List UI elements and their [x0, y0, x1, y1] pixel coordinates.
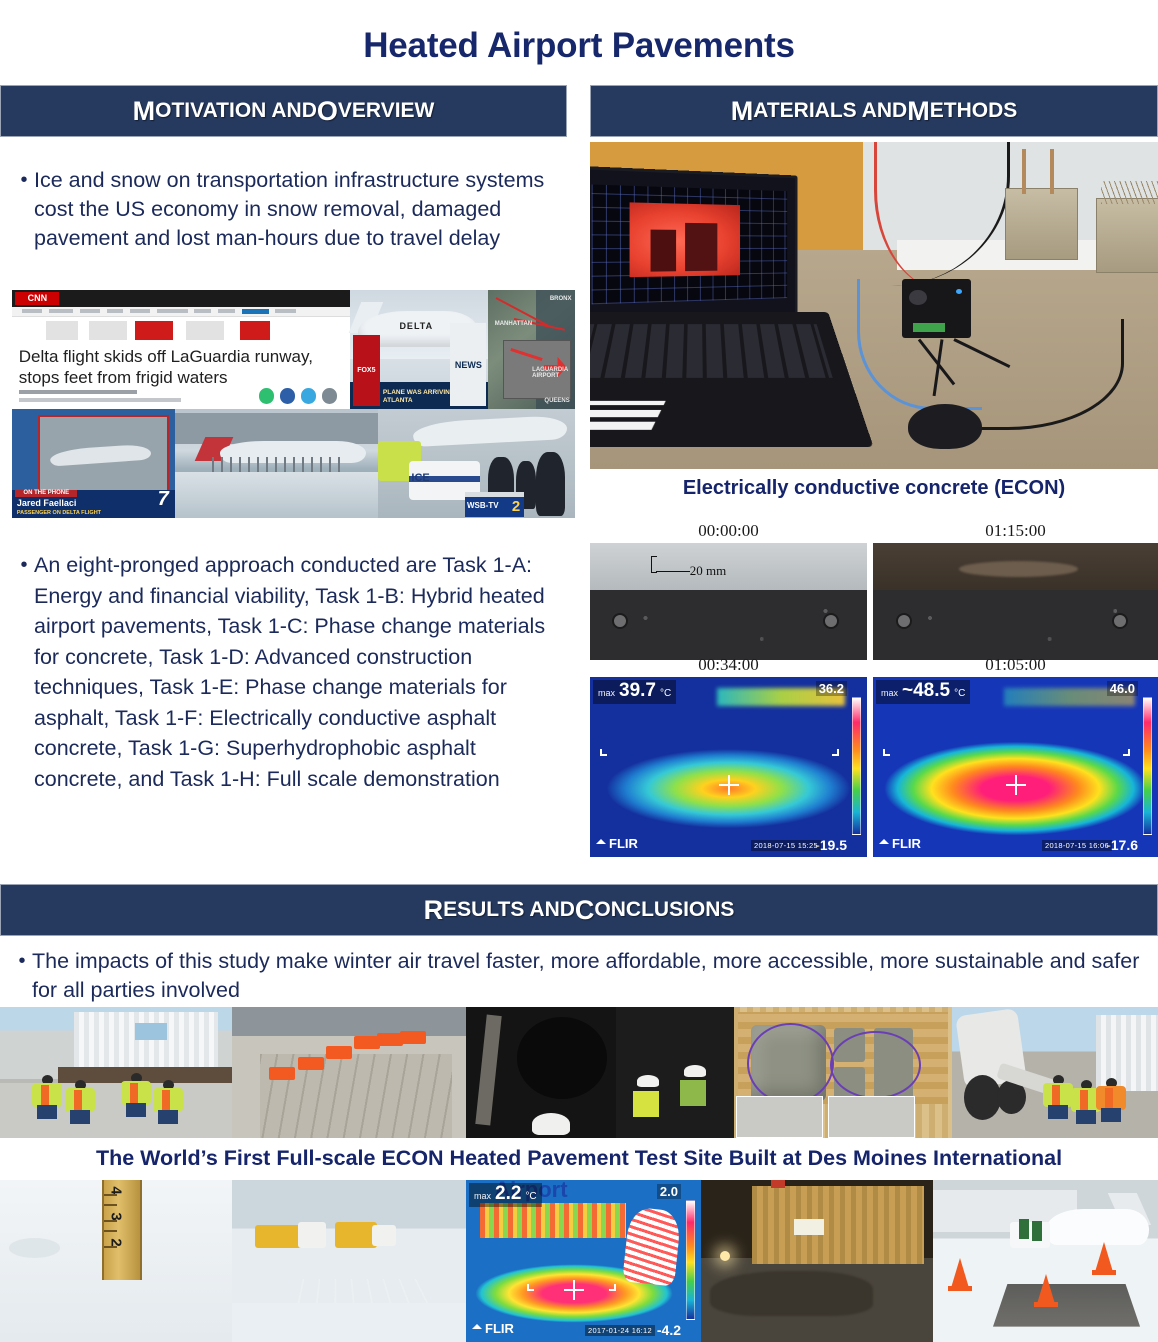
flir-max-readout-2: max ~48.5 °C [876, 680, 970, 704]
specimen-time-label-2: 01:15:00 [873, 521, 1158, 541]
specimen-photo-melted [873, 543, 1158, 660]
photo-thermal-site: Airport max 2.2 °C 2.0 -4.2 FLIR 2017-01… [466, 1180, 701, 1342]
results-photo-row-2: 4 3 2 Airport max [0, 1180, 1158, 1342]
map-label-airport: LAGUARDIA AIRPORT [532, 367, 570, 379]
section-header-motivation-rest1: OTIVATION AND [155, 99, 317, 123]
cnn-article-screenshot: CNN Delta flight skids off LaGu [12, 290, 350, 409]
bullet-motivation-2: • An eight-pronged approach conducted ar… [14, 550, 562, 794]
flir-timestamp-1: 2018-07-15 15:25 [751, 840, 821, 851]
cnn-ad-strip [46, 321, 316, 340]
cnn-byline-2 [19, 398, 181, 402]
flir-scale-high-2: 46.0 [1107, 681, 1138, 696]
page-title: Heated Airport Pavements [0, 26, 1158, 66]
section-header-materials: MATERIALS AND METHODS [590, 85, 1158, 137]
photo-tunnel-conduit-work [466, 1007, 616, 1138]
flir-max-readout-1: max 39.7 °C [593, 680, 676, 704]
flir-logo-icon [472, 1319, 482, 1329]
specimen-photo-ice: 20 mm [590, 543, 867, 660]
bullet-motivation-1-text: Ice and snow on transportation infrastru… [34, 166, 554, 253]
flir-max-unit: °C [660, 688, 671, 699]
flir-thermal-image-2: max ~48.5 °C 46.0 -17.6 FLIR 2018-07-15 … [873, 677, 1158, 857]
tv-on-the-phone-badge: ON THE PHONE [15, 490, 77, 498]
cnn-social-icons [259, 388, 340, 403]
photo-snow-plow-heated-slab [232, 1180, 466, 1342]
delta-plane-photo: DELTA FOX5 PLANE WAS ARRIVING FROM ATLAN… [350, 290, 488, 409]
map-label-bronx: BRONX [550, 296, 572, 302]
photo-crew-installing-slab [0, 1007, 232, 1138]
thermal-time-label-2: 01:05:00 [873, 655, 1158, 675]
flir-brand-text: FLIR [609, 836, 638, 851]
photo-night-hangar-clear-pad [701, 1180, 933, 1342]
delta-wordmark: DELTA [399, 321, 433, 331]
cnn-navbar [12, 307, 350, 318]
section-header-results: RESULTS AND CONCLUSIONS [0, 884, 1158, 936]
poster-canvas: Heated Airport Pavements MOTIVATION AND … [0, 0, 1158, 1342]
econ-specimen-1 [1005, 188, 1079, 260]
map-label-manhattan: MANHATTAN [495, 321, 532, 327]
fox-channel-badge: FOX5 [353, 335, 381, 406]
site-flir-brand-text: FLIR [485, 1321, 514, 1336]
laguardia-map-graphic: LAGUARDIA AIRPORT BRONX MANHATTAN QUEENS [488, 290, 575, 409]
site-thermal-max-readout: max 2.2 °C [469, 1183, 542, 1207]
flir-max-value: ~48.5 [902, 680, 950, 702]
bullet-motivation-2-text: An eight-pronged approach conducted are … [34, 550, 562, 794]
section-header-materials-rest2: ETHODS [930, 99, 1018, 123]
cnn-headline: Delta flight skids off LaGuardia runway,… [19, 346, 343, 388]
site-max-prefix: max [474, 1191, 491, 1201]
flir-color-scale-1 [852, 697, 861, 835]
photo-concrete-truck-pour [952, 1007, 1158, 1138]
snow-depth-ruler: 4 3 2 [102, 1180, 141, 1280]
bullet-marker: • [14, 166, 34, 253]
tv-interview-screenshot: ON THE PHONE Jared Faellaci PASSENGER ON… [12, 409, 175, 518]
photo-rebar-grid-pad [232, 1007, 466, 1138]
wsb-tv-logo: WSB-TV 2 [465, 497, 524, 517]
map-label-queens: QUEENS [544, 398, 569, 404]
laptop-screen [590, 166, 798, 327]
thermal-software-plot [591, 185, 787, 304]
flir-max-value: 39.7 [619, 680, 656, 702]
flir-brand-text: FLIR [892, 836, 921, 851]
flir-max-prefix: max [881, 688, 898, 698]
section-header-materials-cap2: M [907, 96, 930, 127]
laptop-keyboard [590, 312, 874, 447]
flir-timestamp-2: 2018-07-15 16:06 [1042, 840, 1112, 851]
flir-color-scale-2 [1143, 697, 1152, 835]
cnn-byline [19, 390, 137, 395]
section-header-motivation: MOTIVATION AND OVERVIEW [0, 85, 567, 137]
section-header-results-cap1: R [424, 895, 444, 926]
photo-electrical-work [616, 1007, 734, 1138]
flir-logo-icon [879, 834, 889, 844]
flir-max-prefix: max [598, 688, 615, 698]
section-header-motivation-cap1: M [133, 96, 156, 127]
flir-thermal-image-1: max 39.7 °C 36.2 -19.5 FLIR 2018-07-15 1… [590, 677, 867, 857]
computer-mouse [908, 404, 982, 450]
map-inset: LAGUARDIA AIRPORT [503, 340, 571, 399]
tv-guest-subtitle: PASSENGER ON DELTA FLIGHT [17, 510, 101, 516]
section-header-motivation-rest2: VERVIEW [338, 99, 434, 123]
econ-caption: Electrically conductive concrete (ECON) [590, 477, 1158, 500]
photo-jet-apron-clear-pad [933, 1180, 1158, 1342]
section-header-materials-cap1: M [731, 96, 754, 127]
runway-overrun-photo [175, 409, 378, 518]
bullet-motivation-1: • Ice and snow on transportation infrast… [14, 166, 554, 253]
section-header-results-rest1: ESULTS AND [443, 898, 575, 922]
econ-specimen-2 [1096, 198, 1158, 273]
specimen-scale-label: 20 mm [690, 563, 726, 579]
specimen-time-label-1: 00:00:00 [590, 521, 867, 541]
site-max-value: 2.2 [495, 1183, 521, 1205]
flir-max-unit: °C [954, 688, 965, 699]
wsb-call-letters: WSB-TV [467, 501, 499, 510]
section-header-materials-rest1: ATERIALS AND [753, 99, 907, 123]
flir-brand-1: FLIR [596, 834, 638, 852]
tv-guest-name: Jared Faellaci [17, 498, 77, 508]
news-badge: NEWS [450, 323, 486, 406]
flir-logo-icon [596, 834, 606, 844]
flir-brand-2: FLIR [879, 834, 921, 852]
police-vehicle-text: ICE [411, 472, 429, 484]
site-scale-high: 2.0 [657, 1184, 681, 1199]
site-color-scale [686, 1200, 695, 1320]
bullet-marker: • [12, 947, 32, 1005]
section-header-motivation-cap2: O [317, 96, 338, 127]
section-header-results-cap2: C [575, 895, 595, 926]
site-caption: The World’s First Full-scale ECON Heated… [0, 1146, 1158, 1171]
emergency-response-photo: ICE WSB-TV 2 [378, 409, 575, 518]
photo-snow-depth-ruler: 4 3 2 [0, 1180, 232, 1342]
site-max-unit: °C [525, 1191, 536, 1202]
site-scale-low: -4.2 [657, 1322, 681, 1338]
bullet-results-1-text: The impacts of this study make winter ai… [32, 947, 1142, 1005]
results-photo-row-1 [0, 1007, 1158, 1138]
lab-setup-photo [590, 142, 1158, 469]
cnn-logo: CNN [15, 292, 59, 305]
section-header-results-rest2: ONCLUSIONS [594, 898, 734, 922]
flir-crosshair-2 [1006, 775, 1026, 795]
site-flir-timestamp: 2017-01-24 16:12 [585, 1325, 655, 1336]
cnn-topbar [12, 290, 350, 307]
wsb-channel-number: 2 [512, 498, 520, 515]
thermal-time-label-1: 00:34:00 [590, 655, 867, 675]
bullet-results-1: • The impacts of this study make winter … [12, 947, 1142, 1005]
bullet-marker: • [14, 550, 34, 794]
photo-control-panel-boards [734, 1007, 952, 1138]
site-flir-brand: FLIR [472, 1319, 514, 1337]
thermal-camera [902, 279, 970, 338]
flir-crosshair-1 [719, 775, 739, 795]
news-collage-image: CNN Delta flight skids off LaGu [12, 290, 575, 518]
tv-channel-logo: 7 [158, 488, 169, 511]
flir-scale-high-1: 36.2 [816, 681, 847, 696]
